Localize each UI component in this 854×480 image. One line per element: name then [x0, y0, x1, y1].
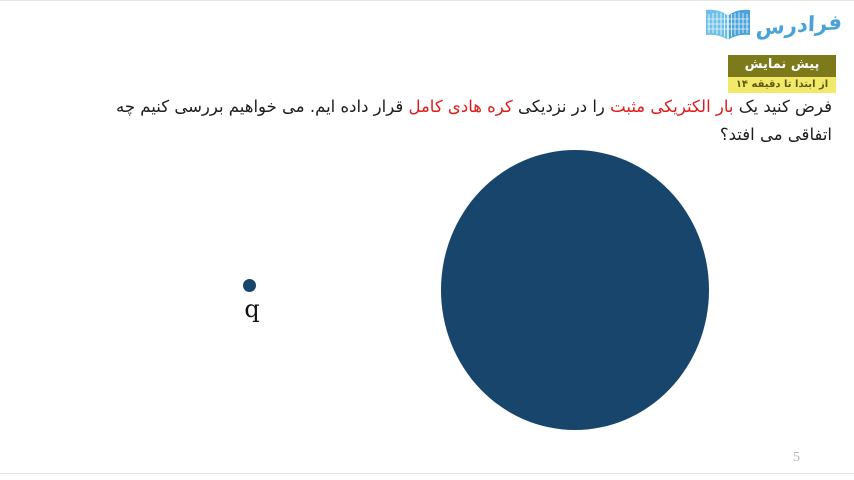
faradars-logo: فرادرس — [704, 8, 842, 42]
point-charge-label: q — [240, 297, 264, 321]
text-segment-1: فرض کنید یک — [733, 97, 832, 116]
presentation-slide: فرادرس پیش نمایش از ابتدا تا دقیقه ۱۴ فر… — [0, 0, 854, 480]
text-segment-4: اتفاقی می افتد؟ — [720, 125, 832, 144]
text-segment-2: را در نزدیکی — [513, 97, 610, 116]
slide-top-divider — [0, 0, 854, 1]
preview-badge-duration: از ابتدا تا دقیقه ۱۴ — [728, 77, 836, 94]
highlight-conducting-sphere: کره هادی کامل — [408, 97, 512, 116]
brand-wordmark: فرادرس — [756, 12, 843, 39]
point-charge-dot — [243, 279, 256, 292]
preview-badge-title: پیش نمایش — [728, 55, 836, 77]
slide-bottom-divider — [0, 473, 854, 474]
preview-badge: پیش نمایش از ابتدا تا دقیقه ۱۴ — [728, 55, 836, 93]
text-segment-3: قرار داده ایم. می خواهیم بررسی کنیم چه — [116, 97, 408, 116]
slide-body-text: فرض کنید یک بار الکتریکی مثبت را در نزدی… — [22, 93, 832, 150]
highlight-positive-charge: بار الکتریکی مثبت — [610, 97, 733, 116]
page-number: 5 — [793, 450, 800, 466]
open-book-icon — [704, 8, 752, 42]
conducting-sphere-shape — [441, 150, 709, 430]
